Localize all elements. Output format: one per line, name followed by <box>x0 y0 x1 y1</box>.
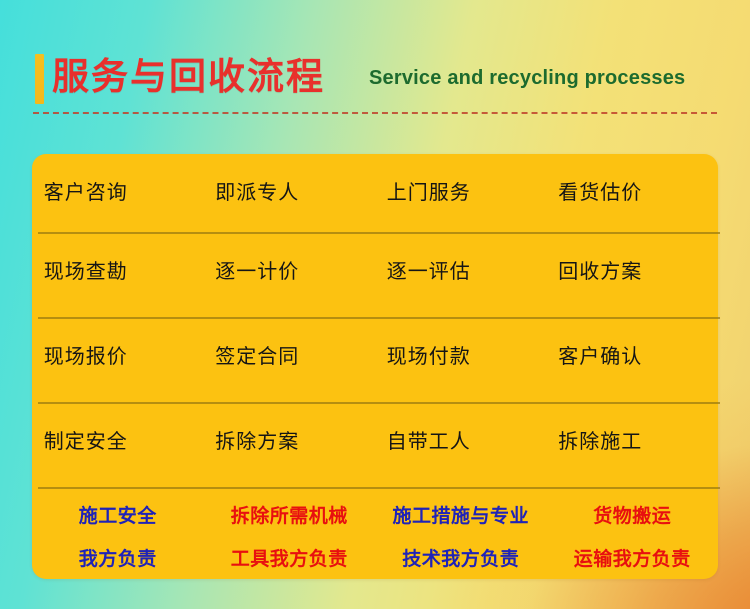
summary-line-1: 施工安全 <box>32 495 204 538</box>
process-step: 上门服务 <box>343 179 515 207</box>
process-step: 自带工人 <box>343 428 515 456</box>
row-divider <box>38 402 720 404</box>
process-step: 回收方案 <box>515 258 687 286</box>
process-step: 现场查勘 <box>0 258 172 286</box>
summary-item: 施工措施与专业 技术我方负责 <box>375 495 547 581</box>
page-title: 服务与回收流程 <box>52 50 325 104</box>
table-row: 客户咨询 即派专人 上门服务 看货估价 <box>0 172 686 214</box>
header-divider <box>33 112 717 114</box>
summary-line-1: 拆除所需机械 <box>204 495 376 538</box>
row-divider <box>38 317 720 319</box>
summary-row: 施工安全 我方负责 拆除所需机械 工具我方负责 施工措施与专业 技术我方负责 货… <box>32 495 718 583</box>
summary-item: 施工安全 我方负责 <box>32 495 204 581</box>
process-step: 客户咨询 <box>0 179 172 207</box>
process-step: 逐一计价 <box>172 258 344 286</box>
row-divider <box>38 487 720 489</box>
summary-line-2: 技术我方负责 <box>375 538 547 581</box>
summary-line-2: 工具我方负责 <box>204 538 376 581</box>
process-step: 拆除方案 <box>172 428 344 456</box>
summary-line-2: 我方负责 <box>32 538 204 581</box>
page-root: 服务与回收流程 Service and recycling processes … <box>0 0 750 609</box>
table-row: 现场报价 签定合同 现场付款 客户确认 <box>0 336 686 378</box>
table-row: 现场查勘 逐一计价 逐一评估 回收方案 <box>0 251 686 293</box>
table-row: 制定安全 拆除方案 自带工人 拆除施工 <box>0 421 686 463</box>
process-step: 签定合同 <box>172 343 344 371</box>
process-step: 制定安全 <box>0 428 172 456</box>
process-step: 客户确认 <box>515 343 687 371</box>
page-header: 服务与回收流程 Service and recycling processes <box>0 0 750 125</box>
summary-line-1: 货物搬运 <box>547 495 719 538</box>
process-step: 看货估价 <box>515 179 687 207</box>
process-step: 即派专人 <box>172 179 344 207</box>
process-step: 现场报价 <box>0 343 172 371</box>
page-subtitle: Service and recycling processes <box>369 64 685 92</box>
summary-line-2: 运输我方负责 <box>547 538 719 581</box>
summary-line-1: 施工措施与专业 <box>375 495 547 538</box>
summary-item: 拆除所需机械 工具我方负责 <box>204 495 376 581</box>
process-step: 现场付款 <box>343 343 515 371</box>
summary-item: 货物搬运 运输我方负责 <box>547 495 719 581</box>
title-accent-bar <box>35 54 44 104</box>
process-step: 拆除施工 <box>515 428 687 456</box>
process-step: 逐一评估 <box>343 258 515 286</box>
row-divider <box>38 232 720 234</box>
